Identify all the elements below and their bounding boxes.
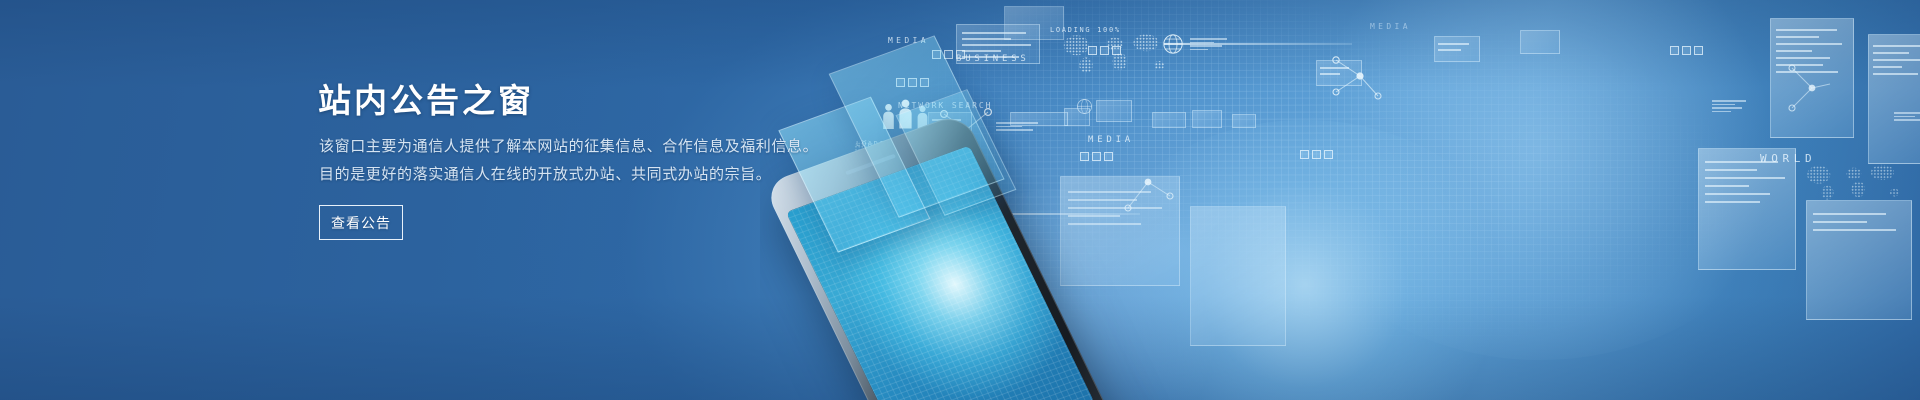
hero-description: 该窗口主要为通信人提供了解本网站的征集信息、合作信息及福利信息。 目的是更好的落… <box>319 133 818 189</box>
square-buttons-5 <box>1080 152 1113 161</box>
hero-description-line-1: 该窗口主要为通信人提供了解本网站的征集信息、合作信息及福利信息。 <box>319 133 818 161</box>
ui-panel-12 <box>1434 36 1480 62</box>
square-buttons-8 <box>1300 150 1333 159</box>
ui-panel-6 <box>1192 110 1222 128</box>
ui-panel-14 <box>1004 6 1064 40</box>
ui-panel-18 <box>1806 200 1912 320</box>
data-text-block-5 <box>1894 112 1920 121</box>
announcement-hero-banner: BUSINESS BUSINESS LOADING 100% LOADING 1… <box>0 0 1920 400</box>
ui-panel-16 <box>1868 34 1920 164</box>
ui-panel-11 <box>1316 60 1362 86</box>
ui-panel-5 <box>1152 112 1186 128</box>
ui-panel-7 <box>1232 114 1256 128</box>
square-buttons-7 <box>1670 46 1703 55</box>
ui-panel-20 <box>1190 206 1286 346</box>
ui-panel-15 <box>1770 18 1854 138</box>
label-world: WORLD <box>1760 152 1816 165</box>
hero-copy-block: 站内公告之窗 该窗口主要为通信人提供了解本网站的征集信息、合作信息及福利信息。 … <box>318 0 878 400</box>
hero-description-line-2: 目的是更好的落实通信人在线的开放式办站、共同式办站的宗旨。 <box>319 161 818 189</box>
square-buttons-4 <box>1088 46 1121 55</box>
label-media-3: MEDIA <box>1370 22 1411 31</box>
label-loading-1: LOADING 100% <box>1050 26 1121 34</box>
data-text-block-6 <box>1712 100 1752 112</box>
label-media-1: MEDIA <box>1088 135 1134 145</box>
page-title: 站内公告之窗 <box>318 74 534 122</box>
view-announcement-button[interactable]: 查看公告 <box>319 205 403 240</box>
progress-bar-1 <box>1164 43 1352 45</box>
ui-panel-17 <box>1698 148 1796 270</box>
label-business-1: BUSINESS <box>956 54 1030 64</box>
ui-panel-13 <box>1520 30 1560 54</box>
technology-collage-graphic: BUSINESS BUSINESS LOADING 100% LOADING 1… <box>760 0 1920 400</box>
ui-panel-3 <box>1096 100 1132 122</box>
